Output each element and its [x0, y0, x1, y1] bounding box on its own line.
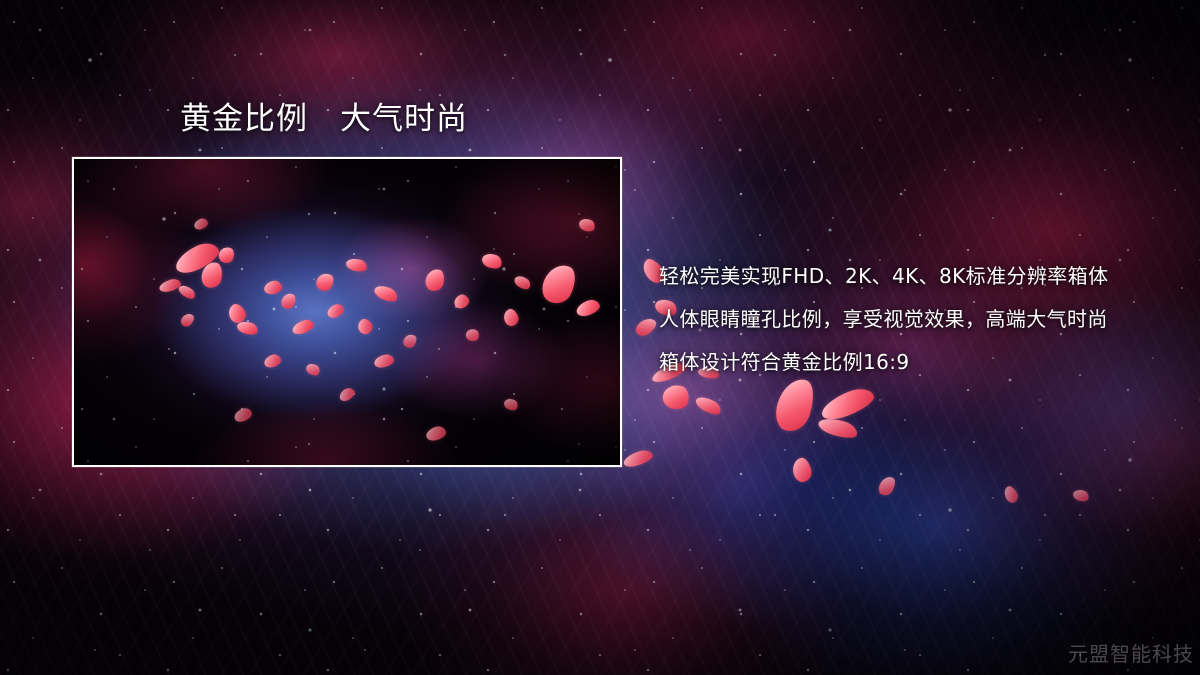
- body-line: 轻松完美实现FHD、2K、4K、8K标准分辨率箱体: [659, 255, 1179, 298]
- flower-petal: [633, 315, 659, 339]
- watermark: 元盟智能科技: [1068, 638, 1194, 667]
- flower-petal: [1072, 488, 1091, 503]
- page-title: 黄金比例 大气时尚: [180, 101, 468, 138]
- flower-petal: [694, 393, 724, 417]
- flower-petal: [622, 448, 655, 470]
- panel-vignette: [74, 159, 620, 465]
- flower-petal: [791, 456, 814, 483]
- flower-petal: [817, 415, 860, 441]
- flower-petal: [876, 474, 898, 498]
- presentation-slide: 黄金比例 大气时尚 轻松完美实现FHD、2K、4K、8K标准分辨率箱体 人体眼睛…: [0, 0, 1200, 675]
- nebula-petals-image-panel: [72, 157, 622, 467]
- body-line: 人体眼睛瞳孔比例，享受视觉效果，高端大气时尚: [659, 298, 1179, 341]
- body-text-block: 轻松完美实现FHD、2K、4K、8K标准分辨率箱体 人体眼睛瞳孔比例，享受视觉效…: [659, 255, 1179, 384]
- flower-petal: [660, 382, 691, 412]
- body-line: 箱体设计符合黄金比例16:9: [659, 341, 1179, 384]
- flower-petal: [1002, 484, 1021, 505]
